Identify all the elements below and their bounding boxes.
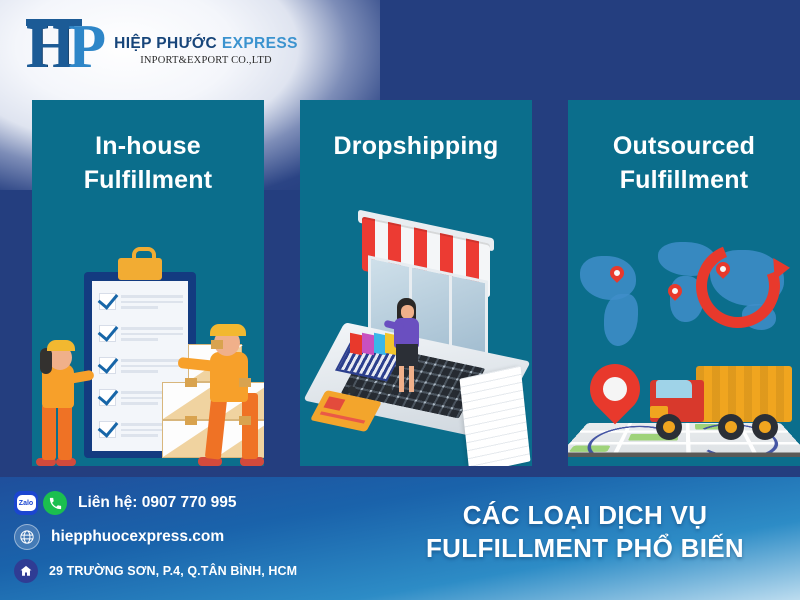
checkbox: [99, 325, 116, 342]
cap: [47, 340, 75, 351]
phone-icon[interactable]: [43, 491, 67, 515]
truck-wheel: [718, 414, 744, 440]
logo-name-accent: EXPRESS: [222, 35, 298, 52]
torso: [210, 352, 248, 402]
shopping-bag: [350, 333, 362, 356]
checkbox: [99, 421, 116, 438]
footer-bar: Zalo Liên hệ: 0907 770 995: [0, 477, 800, 600]
logo-tagline: INPORT&EXPORT CO.,LTD: [114, 55, 298, 66]
world-map-icon: [574, 222, 794, 352]
check-icon: [98, 288, 119, 310]
clipboard-clamp: [118, 258, 162, 280]
checkbox: [99, 357, 116, 374]
service-card-outsourced[interactable]: Outsourced Fulfillment: [568, 100, 800, 466]
headline-line2: FULFILLMENT PHỔ BIẾN: [390, 532, 780, 565]
address-text: 29 TRƯỜNG SƠN, P.4, Q.TÂN BÌNH, HCM: [49, 564, 297, 578]
world-map-delivery-truck-illustration: [568, 216, 800, 466]
leg: [409, 366, 414, 392]
logo-monogram: H P: [26, 17, 104, 77]
poster-canvas: H P HIỆP PHƯỚC EXPRESS INPORT&EXPORT CO.…: [0, 0, 800, 600]
contact-row-website[interactable]: hiepphuocexpress.com: [14, 524, 394, 550]
leg: [58, 402, 72, 460]
card-title-line1: Outsourced: [568, 130, 800, 164]
zalo-icon[interactable]: Zalo: [14, 491, 38, 515]
receipt-icon: [459, 366, 530, 466]
checklist-row: [99, 293, 183, 311]
home-icon: [14, 559, 38, 583]
leg: [242, 393, 258, 459]
truck-cargo-container: [696, 366, 792, 422]
logo-company-name: HIỆP PHƯỚC EXPRESS: [114, 35, 298, 53]
globe-icon[interactable]: [14, 524, 40, 550]
hair: [40, 348, 52, 374]
logo-letter-p: P: [68, 17, 104, 77]
zalo-label: Zalo: [19, 500, 33, 507]
card-title: In-house Fulfillment: [32, 130, 264, 198]
service-card-dropshipping[interactable]: Dropshipping: [300, 100, 532, 466]
logo-serif-bar: [26, 19, 82, 26]
logo-wordmark: HIỆP PHƯỚC EXPRESS INPORT&EXPORT CO.,LTD: [114, 35, 298, 66]
leg: [42, 404, 56, 460]
checkbox: [99, 389, 116, 406]
card-title-line2: Fulfillment: [568, 164, 800, 198]
shopping-bag: [362, 333, 374, 356]
skirt: [396, 344, 418, 368]
service-card-in-house[interactable]: In-house Fulfillment: [32, 100, 264, 466]
continent: [604, 294, 638, 346]
checklist-row: [99, 325, 183, 343]
leg: [399, 366, 404, 392]
check-icon: [98, 320, 119, 342]
head: [401, 305, 414, 319]
card-title: Dropshipping: [300, 130, 532, 164]
logo-letter-h: H: [26, 17, 72, 77]
check-icon: [98, 352, 119, 374]
contact-row-phone[interactable]: Zalo Liên hệ: 0907 770 995: [14, 491, 394, 515]
card-title-line2: Fulfillment: [32, 164, 264, 198]
logo-name-main: HIỆP PHƯỚC: [114, 35, 217, 52]
checkbox: [99, 293, 116, 310]
contact-row-address: 29 TRƯỜNG SƠN, P.4, Q.TÂN BÌNH, HCM: [14, 559, 394, 583]
website-text: hiepphuocexpress.com: [51, 528, 224, 546]
company-logo: H P HIỆP PHƯỚC EXPRESS INPORT&EXPORT CO.…: [26, 12, 276, 82]
check-icon: [98, 416, 119, 438]
headline-line1: CÁC LOẠI DỊCH VỤ: [390, 499, 780, 532]
primary-location-pin-icon: [580, 354, 651, 425]
leg: [205, 396, 227, 459]
truck-window: [656, 380, 692, 398]
phone-text: Liên hệ: 0907 770 995: [78, 494, 237, 512]
cart-wheel: [348, 386, 356, 394]
laptop-online-store-illustration: [300, 216, 532, 466]
cap: [210, 324, 246, 336]
card-title-line1: In-house: [32, 130, 264, 164]
contact-info-block: Zalo Liên hệ: 0907 770 995: [14, 491, 394, 592]
card-title: Outsourced Fulfillment: [568, 130, 800, 198]
delivery-truck-icon: [642, 358, 792, 440]
warehouse-checklist-illustration: [32, 216, 264, 466]
check-icon: [98, 384, 119, 406]
poster-headline: CÁC LOẠI DỊCH VỤ FULFILLMENT PHỔ BIẾN: [390, 499, 780, 566]
truck-wheel: [752, 414, 778, 440]
truck-wheel: [656, 414, 682, 440]
zalo-bubble: Zalo: [17, 495, 36, 511]
card-title-line1: Dropshipping: [300, 130, 532, 164]
warehouse-worker-female: [38, 326, 90, 466]
shopper-figure: [388, 298, 426, 394]
laptop-store: [310, 224, 522, 462]
checklist-text-lines: [121, 295, 183, 312]
warehouse-worker-male: [202, 306, 262, 466]
